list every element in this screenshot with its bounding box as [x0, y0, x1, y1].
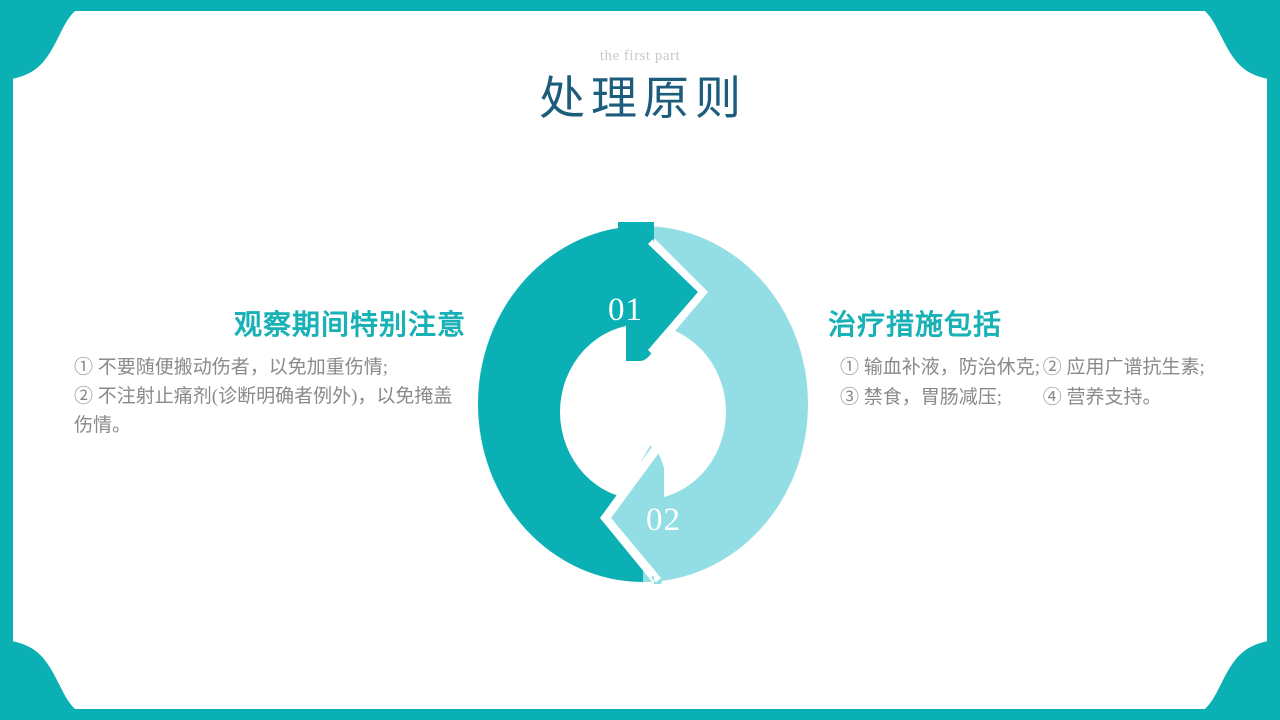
list-item: ③ 禁食，胃肠减压; — [840, 383, 1043, 413]
right-block-heading: 治疗措施包括 — [828, 306, 1228, 344]
left-block-heading: 观察期间特别注意 — [74, 306, 466, 344]
corner-bottom-left-icon — [0, 624, 110, 720]
left-content-block: 观察期间特别注意 ① 不要随便搬动伤者，以免加重伤情; ② 不注射止痛剂(诊断明… — [74, 306, 466, 440]
cycle-diagram-svg — [468, 216, 818, 584]
right-block-column-2: ② 应用广谱抗生素; ④ 营养支持。 — [1043, 353, 1228, 413]
cycle-diagram: 01 02 — [468, 216, 818, 584]
corner-bottom-right-icon — [1170, 624, 1280, 720]
slide: the first part 处理原则 观察期间特别注意 ① 不要随便搬动伤者，… — [0, 0, 1280, 720]
slide-header: the first part 处理原则 — [0, 46, 1280, 128]
list-item: ② 不注射止痛剂(诊断明确者例外)，以免掩盖伤情。 — [74, 382, 466, 440]
frame-bottom-bar — [0, 709, 1280, 720]
eyebrow-label: the first part — [0, 46, 1280, 66]
cycle-number-02: 02 — [646, 504, 681, 537]
frame-top-bar — [0, 0, 1280, 11]
list-item: ② 应用广谱抗生素; — [1043, 353, 1228, 383]
cycle-number-01: 01 — [608, 294, 643, 327]
page-title: 处理原则 — [0, 70, 1280, 128]
right-block-body: ① 输血补液，防治休克; ③ 禁食，胃肠减压; ② 应用广谱抗生素; ④ 营养支… — [828, 353, 1228, 413]
right-block-column-1: ① 输血补液，防治休克; ③ 禁食，胃肠减压; — [828, 353, 1043, 413]
left-block-body: ① 不要随便搬动伤者，以免加重伤情; ② 不注射止痛剂(诊断明确者例外)，以免掩… — [74, 353, 466, 440]
list-item: ④ 营养支持。 — [1043, 383, 1228, 413]
list-item: ① 输血补液，防治休克; — [840, 353, 1043, 383]
right-content-block: 治疗措施包括 ① 输血补液，防治休克; ③ 禁食，胃肠减压; ② 应用广谱抗生素… — [828, 306, 1228, 413]
list-item: ① 不要随便搬动伤者，以免加重伤情; — [74, 353, 466, 382]
